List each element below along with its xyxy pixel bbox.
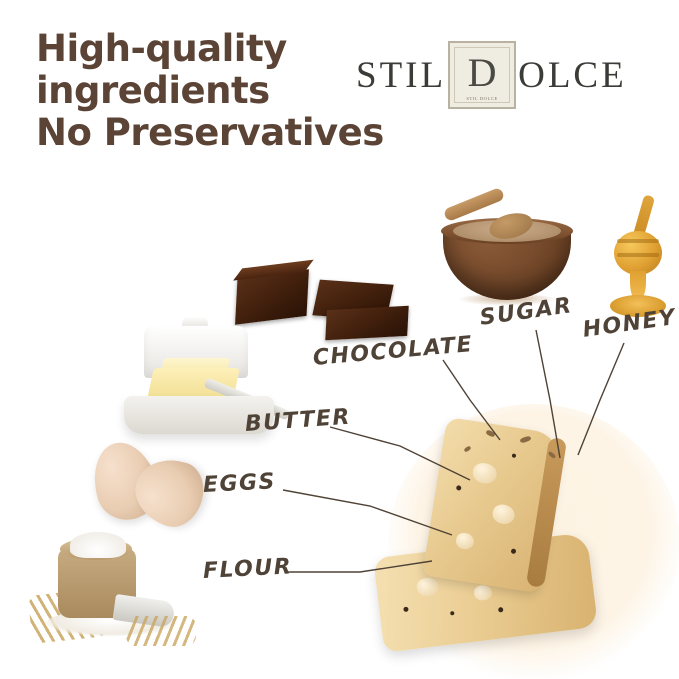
brand-monogram-letter: D xyxy=(468,53,497,97)
headline-line-2: ingredients xyxy=(36,70,366,112)
brand-word-right: OLCE xyxy=(518,57,627,94)
flour-heap xyxy=(70,532,126,558)
sugar-scoop-handle xyxy=(443,187,505,222)
flour-image xyxy=(30,532,205,650)
wheat-stalks-right xyxy=(126,616,196,646)
headline-line-3: No Preservatives xyxy=(36,112,366,154)
label-flour: FLOUR xyxy=(202,554,292,584)
brand-word-left: STIL xyxy=(356,57,446,94)
chocolate-piece-1 xyxy=(235,269,309,324)
label-eggs: EGGS xyxy=(202,469,276,498)
biscotti-slice-upper xyxy=(422,417,564,593)
sugar-bowl-image xyxy=(437,192,577,310)
biscotti-image xyxy=(378,425,648,655)
eggs-image xyxy=(88,440,218,530)
headline-line-1: High-quality xyxy=(36,28,366,70)
brand-monogram-icon: D STIL DOLCE xyxy=(448,41,516,109)
chocolate-piece-3 xyxy=(325,306,408,340)
ingredients-poster: High-quality ingredients No Preservative… xyxy=(0,0,679,679)
honey-dipper-image xyxy=(586,195,679,320)
page-title: High-quality ingredients No Preservative… xyxy=(36,28,366,155)
brand-logo: STIL D STIL DOLCE OLCE xyxy=(356,40,646,110)
dipper-head xyxy=(614,231,662,275)
brand-monogram-caption: STIL DOLCE xyxy=(450,96,514,101)
